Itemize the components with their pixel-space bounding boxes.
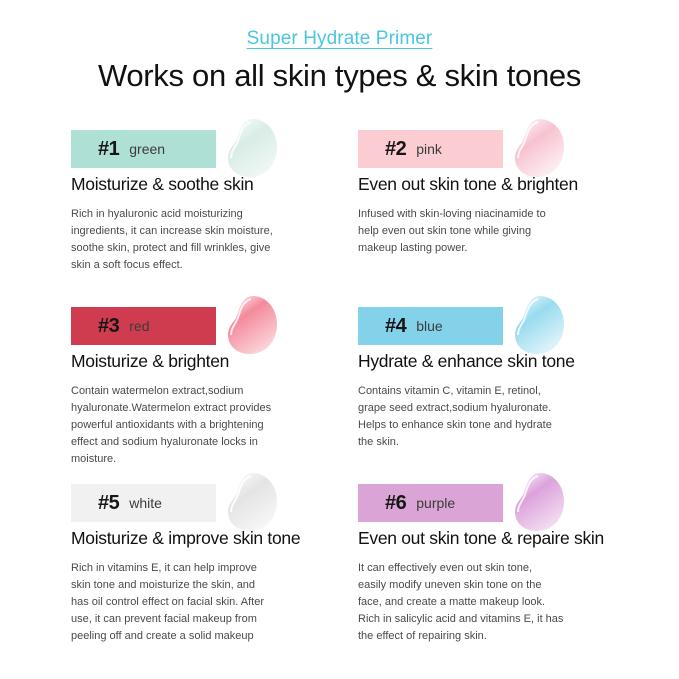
shade-name-5: white	[129, 495, 162, 511]
shade-name-4: blue	[416, 318, 442, 334]
shade-badge-4: #4 blue	[358, 307, 503, 345]
shade-card-5: #5 white	[71, 466, 358, 650]
shade-badge-5: #5 white	[71, 484, 216, 522]
shade-description-5: Rich in vitamins E, it can help improve …	[71, 560, 323, 645]
shade-description-6: It can effectively even out skin tone, e…	[358, 560, 610, 645]
shade-name-6: purple	[416, 495, 455, 511]
shade-title-2: Even out skin tone & brighten	[358, 174, 645, 194]
shade-name-2: pink	[416, 141, 442, 157]
cream-swatch-icon-6	[510, 471, 566, 533]
product-shade-grid: #1 green	[0, 112, 679, 650]
shade-name-3: red	[129, 318, 149, 334]
shade-title-3: Moisturize & brighten	[71, 351, 358, 371]
shade-badge-row-4: #4 blue	[358, 289, 645, 351]
shade-badge-row-3: #3 red	[71, 289, 358, 351]
product-infographic-page: Super Hydrate Primer Works on all skin t…	[0, 0, 679, 679]
shade-description-1: Rich in hyaluronic acid moisturizing ing…	[71, 206, 323, 274]
shade-badge-3: #3 red	[71, 307, 216, 345]
shade-title-5: Moisturize & improve skin tone	[71, 528, 358, 548]
product-name-eyebrow: Super Hydrate Primer	[247, 28, 433, 50]
shade-title-1: Moisturize & soothe skin	[71, 174, 358, 194]
shade-number-1: #1	[98, 138, 119, 161]
shade-badge-1: #1 green	[71, 130, 216, 168]
shade-badge-row-6: #6 purple	[358, 466, 645, 528]
shade-description-3: Contain watermelon extract,sodium hyalur…	[71, 383, 323, 468]
shade-badge-6: #6 purple	[358, 484, 503, 522]
shade-card-6: #6 purple	[358, 466, 645, 650]
cream-swatch-icon-4	[510, 294, 566, 356]
shade-title-4: Hydrate & enhance skin tone	[358, 351, 645, 371]
shade-badge-row-5: #5 white	[71, 466, 358, 528]
shade-card-1: #1 green	[71, 112, 358, 289]
shade-title-6: Even out skin tone & repaire skin	[358, 528, 645, 548]
page-header: Super Hydrate Primer Works on all skin t…	[0, 0, 679, 93]
cream-swatch-icon-1	[223, 117, 279, 179]
shade-number-4: #4	[385, 315, 406, 338]
cream-swatch-icon-3	[223, 294, 279, 356]
shade-badge-row-2: #2 pink	[358, 112, 645, 174]
shade-badge-2: #2 pink	[358, 130, 503, 168]
shade-card-3: #3 red	[71, 289, 358, 466]
shade-number-6: #6	[385, 492, 406, 515]
shade-number-2: #2	[385, 138, 406, 161]
page-title: Works on all skin types & skin tones	[0, 59, 679, 93]
shade-card-4: #4 blue	[358, 289, 645, 466]
shade-number-5: #5	[98, 492, 119, 515]
cream-swatch-icon-2	[510, 117, 566, 179]
cream-swatch-icon-5	[223, 471, 279, 533]
shade-card-2: #2 pink	[358, 112, 645, 289]
shade-badge-row-1: #1 green	[71, 112, 358, 174]
shade-number-3: #3	[98, 315, 119, 338]
shade-description-4: Contains vitamin C, vitamin E, retinol, …	[358, 383, 610, 451]
shade-description-2: Infused with skin-loving niacinamide to …	[358, 206, 610, 257]
shade-name-1: green	[129, 141, 165, 157]
